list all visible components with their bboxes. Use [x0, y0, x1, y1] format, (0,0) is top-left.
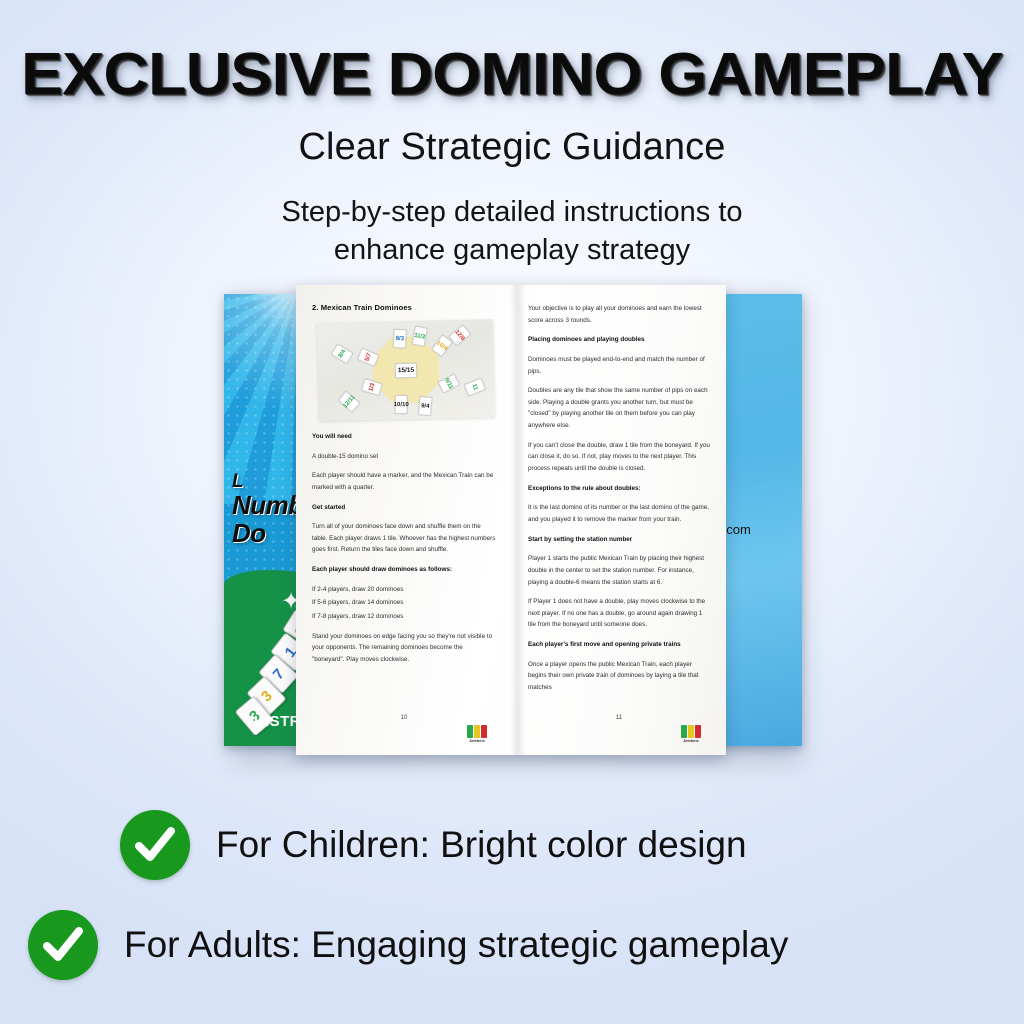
booklet-inner-spread: 2. Mexican Train Dominoes 15/15 8/3 11/2… — [296, 285, 726, 755]
brand-logo-icon — [678, 725, 704, 738]
brand-logo: Jemteric — [464, 725, 490, 743]
photo-tile: 10/10 — [395, 395, 408, 414]
benefit-item: For Children: Bright color design — [0, 795, 1024, 895]
photo-tile: 8/4 — [331, 343, 354, 364]
left-page-number: 10 — [296, 715, 512, 721]
photo-tile: 9/11 — [437, 373, 460, 393]
photo-tile: 12/11 — [338, 391, 361, 413]
photo-tile: 8/3 — [393, 329, 407, 349]
booklet-product-image: L Numb Do ✦ 15 15 1 7 3 3 INSTRU utlook.… — [186, 285, 838, 767]
right-page-block: If you can't close the double, draw 1 ti… — [528, 440, 710, 475]
brand-wordmark: Jemteric — [464, 739, 490, 743]
right-page-block: Player 1 starts the public Mexican Train… — [528, 553, 710, 588]
left-page-block: If 7-8 players, draw 12 dominoes — [312, 611, 496, 623]
left-page-block: Each player should have a marker, and th… — [312, 470, 496, 493]
right-page-block: Doubles are any tile that show the same … — [528, 385, 710, 432]
brand-wordmark: Jemteric — [678, 739, 704, 743]
domino-layout-photo: 15/15 8/3 11/2 10/4 12/6 8/4 5/7 1/3 12/… — [317, 319, 495, 421]
check-icon — [120, 810, 190, 880]
right-page-block: Dominoes must be played end-to-end and m… — [528, 354, 710, 377]
right-page-block: Once a player opens the public Mexican T… — [528, 659, 710, 694]
photo-center-tile: 15/15 — [395, 363, 417, 378]
right-page-block: Start by setting the station number — [528, 534, 710, 546]
left-page-block: Each player should draw dominoes as foll… — [312, 564, 496, 576]
brand-logo: Jemteric — [678, 725, 704, 743]
subheadline: Clear Strategic Guidance — [0, 126, 1024, 169]
left-page-block: A double-15 domino set — [312, 451, 496, 463]
benefit-label: For Adults: Engaging strategic gameplay — [124, 924, 788, 966]
right-page-block: It is the last domino of its number or t… — [528, 502, 710, 525]
benefits-list: For Children: Bright color design For Ad… — [0, 795, 1024, 995]
photo-tile: 11 — [464, 378, 486, 397]
description-line-1: Step-by-step detailed instructions to — [0, 193, 1024, 231]
check-icon — [28, 910, 98, 980]
booklet-left-page: 2. Mexican Train Dominoes 15/15 8/3 11/2… — [296, 285, 512, 755]
right-page-block: If Player 1 does not have a double, play… — [528, 596, 710, 631]
right-page-block: Exceptions to the rule about doubles: — [528, 483, 710, 495]
left-page-block: You will need — [312, 431, 496, 443]
page-title: EXCLUSIVE DOMINO GAMEPLAY — [0, 44, 1024, 104]
benefit-label: For Children: Bright color design — [216, 824, 747, 866]
left-page-block: Turn all of your dominoes face down and … — [312, 521, 496, 556]
description: Step-by-step detailed instructions to en… — [0, 193, 1024, 270]
left-page-heading: 2. Mexican Train Dominoes — [312, 303, 496, 312]
photo-tile: 9/4 — [418, 396, 433, 416]
right-page-block: Your objective is to play all your domin… — [528, 303, 710, 326]
brand-logo-icon — [464, 725, 490, 738]
right-page-number: 11 — [512, 715, 726, 721]
left-page-block: If 2-4 players, draw 20 dominoes — [312, 584, 496, 596]
left-page-block: Get started — [312, 502, 496, 514]
header: EXCLUSIVE DOMINO GAMEPLAY Clear Strategi… — [0, 0, 1024, 270]
left-page-block: If 5-6 players, draw 14 dominoes — [312, 597, 496, 609]
booklet-right-page: Your objective is to play all your domin… — [512, 285, 726, 755]
benefit-item: For Adults: Engaging strategic gameplay — [0, 895, 1024, 995]
left-page-block: Stand your dominoes on edge facing you s… — [312, 631, 496, 666]
description-line-2: enhance gameplay strategy — [0, 231, 1024, 269]
right-page-block: Each player's first move and opening pri… — [528, 639, 710, 651]
right-page-block: Placing dominoes and playing doubles — [528, 334, 710, 346]
